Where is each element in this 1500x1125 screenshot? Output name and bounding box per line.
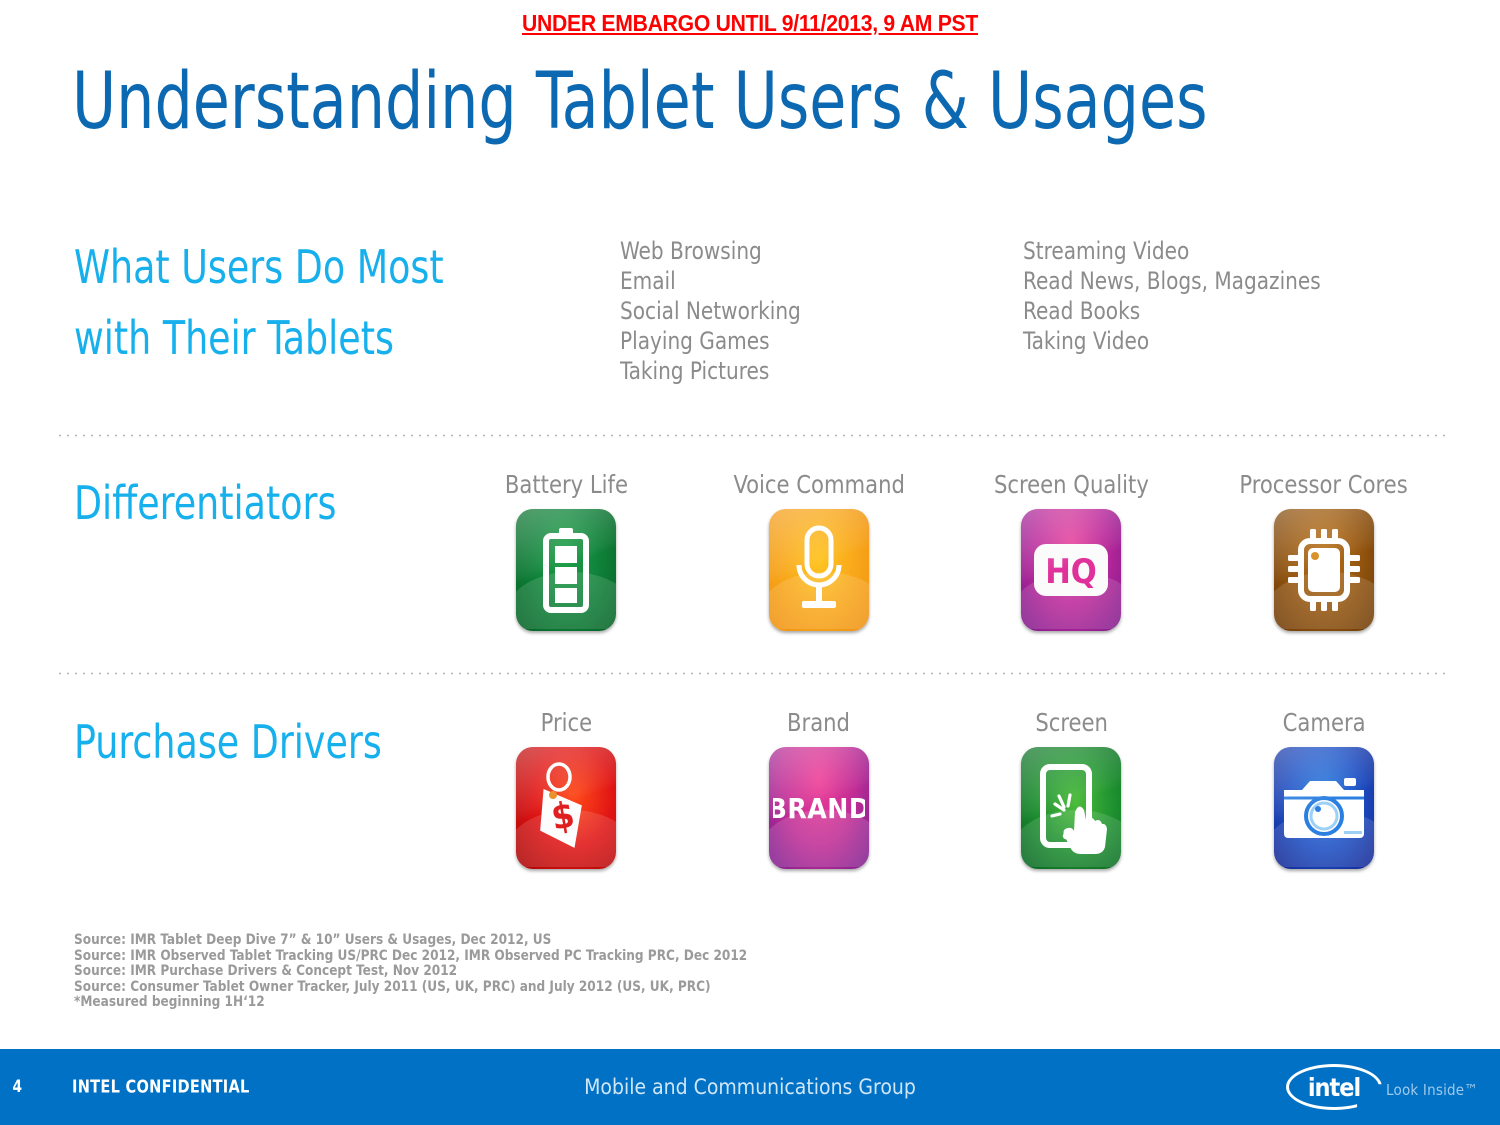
cpu-chip-icon[interactable]	[1274, 509, 1374, 631]
list-item: Streaming Video	[1023, 236, 1321, 266]
intel-logo-wordmark: intel	[1308, 1073, 1360, 1102]
list-item: Web Browsing	[620, 236, 801, 266]
section-heading-differentiators: Differentiators	[74, 468, 336, 539]
brand-glyph: BRAND	[769, 747, 869, 869]
icon-label: Brand	[787, 708, 850, 738]
source-line: Source: IMR Purchase Drivers & Concept T…	[74, 964, 747, 980]
section-heading-purchase-drivers: Purchase Drivers	[74, 707, 382, 778]
page-title: Understanding Tablet Users & Usages	[72, 62, 1208, 144]
usage-list-column-2: Streaming Video Read News, Blogs, Magazi…	[1023, 236, 1321, 356]
source-notes: Source: IMR Tablet Deep Dive 7” & 10” Us…	[74, 933, 747, 1011]
usages-heading-line-1: What Users Do Most	[74, 232, 444, 303]
icon-label: Screen	[1035, 708, 1108, 738]
icon-label: Voice Command	[733, 470, 904, 500]
differentiator-processor-cores[interactable]: Processor Cores	[1198, 470, 1451, 670]
icon-label: Screen Quality	[994, 470, 1149, 500]
touch-tablet-icon[interactable]	[1021, 747, 1121, 869]
purchase-driver-brand[interactable]: Brand BRAND	[693, 708, 946, 908]
usages-heading-line-2: with Their Tablets	[74, 303, 444, 374]
purchase-driver-camera[interactable]: Camera	[1198, 708, 1451, 908]
section-heading-usages: What Users Do Most with Their Tablets	[74, 232, 444, 375]
purchase-driver-screen[interactable]: Screen	[945, 708, 1198, 908]
usage-list-column-1: Web Browsing Email Social Networking Pla…	[620, 236, 801, 386]
embargo-notice: UNDER EMBARGO UNTIL 9/11/2013, 9 AM PST	[60, 10, 1440, 37]
price-tag-glyph: $	[516, 747, 616, 869]
source-line: Source: IMR Tablet Deep Dive 7” & 10” Us…	[74, 933, 747, 949]
list-item: Taking Pictures	[620, 356, 801, 386]
battery-icon[interactable]	[516, 509, 616, 631]
icon-label: Battery Life	[505, 470, 628, 500]
footer-bar: 4 INTEL CONFIDENTIAL Mobile and Communic…	[0, 1049, 1500, 1125]
brand-badge-icon[interactable]: BRAND	[769, 747, 869, 869]
list-item: Taking Video	[1023, 326, 1321, 356]
source-line: *Measured beginning 1H‘12	[74, 995, 747, 1011]
source-line: Source: IMR Observed Tablet Tracking US/…	[74, 949, 747, 965]
icon-label: Price	[540, 708, 592, 738]
svg-text:BRAND: BRAND	[773, 792, 865, 825]
list-item: Playing Games	[620, 326, 801, 356]
camera-glyph	[1274, 747, 1374, 869]
cpu-glyph	[1274, 509, 1374, 631]
purchase-driver-price[interactable]: Price $	[440, 708, 693, 908]
source-line: Source: Consumer Tablet Owner Tracker, J…	[74, 980, 747, 996]
list-item: Read Books	[1023, 296, 1321, 326]
microphone-icon[interactable]	[769, 509, 869, 631]
intel-logo-mark: intel	[1286, 1064, 1382, 1110]
camera-icon[interactable]	[1274, 747, 1374, 869]
hq-badge-icon[interactable]: HQ	[1021, 509, 1121, 631]
svg-text:HQ: HQ	[1045, 552, 1097, 592]
purchase-drivers-icon-row: Price $ Brand BRAND Screen	[440, 708, 1450, 908]
list-item: Email	[620, 266, 801, 296]
section-divider-1	[56, 434, 1449, 437]
group-name-label: Mobile and Communications Group	[0, 1075, 1500, 1099]
intel-logo-tagline: Look Inside™	[1386, 1081, 1478, 1099]
list-item: Read News, Blogs, Magazines	[1023, 266, 1321, 296]
icon-label: Processor Cores	[1240, 470, 1408, 500]
list-item: Social Networking	[620, 296, 801, 326]
differentiator-battery-life[interactable]: Battery Life	[440, 470, 693, 670]
hq-glyph: HQ	[1021, 509, 1121, 631]
differentiators-icon-row: Battery Life Voice Command	[440, 470, 1450, 670]
microphone-glyph	[769, 509, 869, 631]
battery-glyph	[516, 509, 616, 631]
icon-label: Camera	[1282, 708, 1365, 738]
intel-logo: intel Look Inside™	[1286, 1064, 1478, 1110]
touch-tablet-glyph	[1021, 747, 1121, 869]
differentiator-screen-quality[interactable]: Screen Quality HQ	[945, 470, 1198, 670]
section-divider-2	[56, 672, 1449, 675]
price-tag-icon[interactable]: $	[516, 747, 616, 869]
differentiator-voice-command[interactable]: Voice Command	[693, 470, 946, 670]
